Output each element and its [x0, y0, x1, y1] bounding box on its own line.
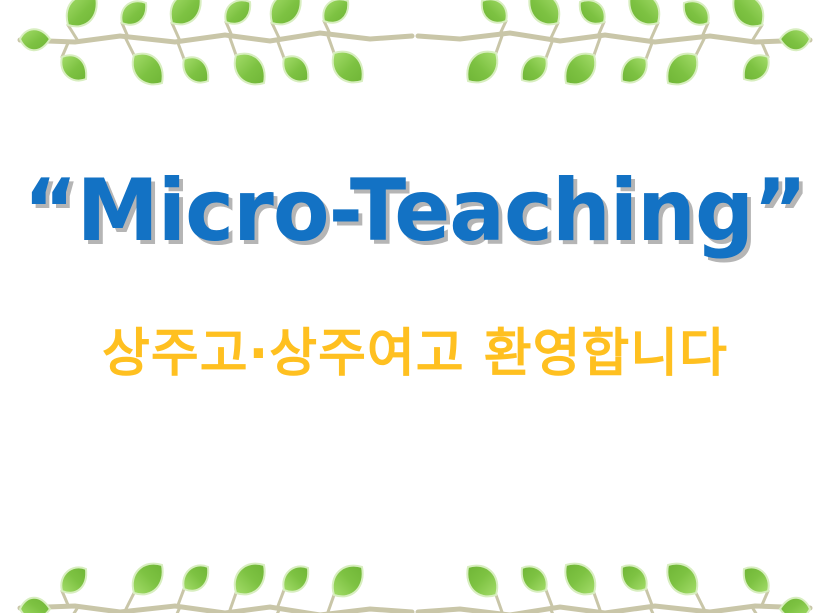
slide-subtitle: 상주고·상주여고 환영합니다	[102, 325, 728, 385]
bottom-left-branch-icon	[0, 538, 415, 613]
top-left-branch-icon	[0, 0, 415, 110]
subtitle-container: 상주고·상주여고 환영합니다	[0, 325, 830, 385]
title-container: “Micro-Teaching”	[0, 168, 830, 254]
top-right-branch-icon	[415, 0, 830, 110]
top-leaf-border	[0, 0, 830, 110]
bottom-leaf-border	[0, 538, 830, 613]
slide-title: “Micro-Teaching”	[23, 168, 806, 254]
bottom-right-branch-icon	[415, 538, 830, 613]
presentation-slide: “Micro-Teaching” 상주고·상주여고 환영합니다	[0, 0, 830, 613]
